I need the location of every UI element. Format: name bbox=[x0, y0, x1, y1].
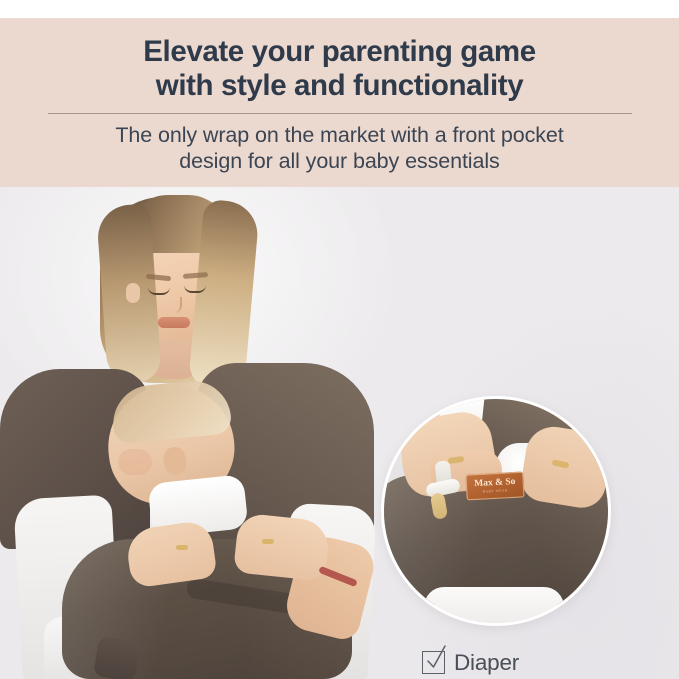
pocket-detail-inset: Max & So BABY WEAR bbox=[384, 399, 608, 623]
mother-ear bbox=[126, 283, 140, 303]
page-headline: Elevate your parenting game with style a… bbox=[0, 18, 679, 103]
subheadline-line-1: The only wrap on the market with a front… bbox=[24, 123, 655, 149]
product-marketing-image: Elevate your parenting game with style a… bbox=[0, 0, 679, 679]
checkmark-icon bbox=[422, 651, 445, 674]
ring-right bbox=[262, 539, 274, 544]
inset-shirt-bottom bbox=[424, 587, 564, 623]
mother-and-baby-photo: Max & So BABY WEAR bbox=[0, 187, 400, 679]
headline-line-1: Elevate your parenting game bbox=[30, 35, 649, 69]
ring-left bbox=[176, 545, 188, 550]
inset-brand-label-tagline: BABY WEAR bbox=[483, 487, 508, 494]
headline-line-2: with style and functionality bbox=[30, 69, 649, 103]
checklist-label: Diaper bbox=[454, 651, 519, 675]
brand-label-inset: Max & So BABY WEAR bbox=[465, 472, 524, 501]
mother-lips bbox=[158, 317, 190, 328]
headline-divider bbox=[48, 113, 632, 114]
essentials-checklist: Diaper Pacifier Toy Baby wipes bbox=[422, 642, 672, 679]
product-photo-area: Max & So BABY WEAR Max & So BABY WEAR bbox=[0, 187, 679, 679]
checklist-item-diaper: Diaper bbox=[422, 642, 672, 679]
page-subheadline: The only wrap on the market with a front… bbox=[0, 114, 679, 174]
header-banner: Elevate your parenting game with style a… bbox=[0, 18, 679, 187]
baby-cheek bbox=[118, 449, 152, 475]
subheadline-line-2: design for all your baby essentials bbox=[24, 149, 655, 175]
wrap-tail bbox=[93, 636, 141, 679]
